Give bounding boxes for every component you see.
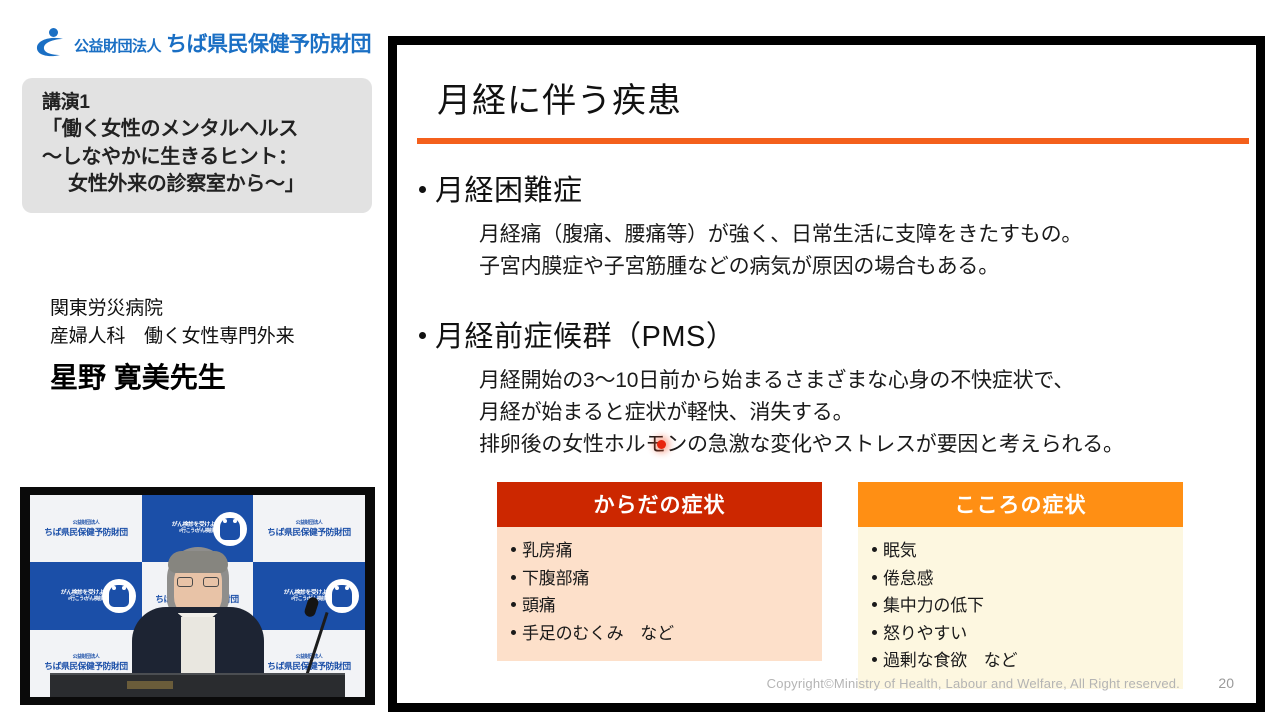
sidebar-panel: 公益財団法人 ちば県民保健予防財団 講演1 「働く女性のメンタルヘルス ～しなや… xyxy=(0,0,385,720)
slide-title: 月経に伴う疾患 xyxy=(437,73,682,122)
slide-page-number: 20 xyxy=(1218,675,1234,691)
speaker-affiliation-1: 産婦人科 働く女性専門外来 xyxy=(50,323,380,351)
section-heading-text: 月経困難症 xyxy=(435,167,583,209)
symptom-item: 過剰な食欲 など xyxy=(872,647,1183,675)
symptom-list: 眠気 倦怠感 集中力の低下 怒りやすい 過剰な食欲 など xyxy=(858,527,1183,689)
lecture-title-box: 講演1 「働く女性のメンタルヘルス ～しなやかに生きるヒント： 女性外来の診察室… xyxy=(22,78,372,213)
symptom-table-header: からだの症状 xyxy=(497,482,822,527)
section-heading: 月経困難症 xyxy=(419,167,1082,209)
symptom-item: 下腹部痛 xyxy=(511,565,822,593)
list-bullet-icon xyxy=(872,630,877,635)
list-bullet-icon xyxy=(872,547,877,552)
laser-pointer-dot-icon xyxy=(657,440,666,449)
list-bullet-icon xyxy=(511,575,516,580)
section-line: 排卵後の女性ホルモンの急激な変化やストレスが要因と考えられる。 xyxy=(479,429,1124,461)
podium xyxy=(50,673,345,697)
list-bullet-icon xyxy=(511,602,516,607)
symptom-label: 乳房痛 xyxy=(522,537,572,565)
speaker-info: 関東労災病院 産婦人科 働く女性専門外来 星野 寛美先生 xyxy=(50,295,380,396)
section-body: 月経痛（腹痛、腰痛等）が強く、日常生活に支障をきたすもの。 子宮内膜症や子宮筋腫… xyxy=(479,219,1082,283)
banner-text-large: ちば県民保健予防財団 xyxy=(44,661,127,671)
symptom-label: 頭痛 xyxy=(522,592,556,620)
chiba-swoosh-logo-icon xyxy=(36,27,66,59)
symptom-item: 乳房痛 xyxy=(511,537,822,565)
symptom-table-body: からだの症状 乳房痛 下腹部痛 頭痛 手足のむくみ など xyxy=(497,482,822,689)
eyeglasses-icon xyxy=(176,577,220,587)
symptom-item: 手足のむくみ など xyxy=(511,620,822,648)
presentation-slide[interactable]: 月経に伴う疾患 月経困難症 月経痛（腹痛、腰痛等）が強く、日常生活に支障をきたす… xyxy=(388,36,1265,712)
banner-text-large: ちば県民保健予防財団 xyxy=(267,526,350,536)
symptom-table-mind: こころの症状 眠気 倦怠感 集中力の低下 怒りやすい 過剰な食欲 など xyxy=(858,482,1183,689)
symptom-label: 下腹部痛 xyxy=(522,565,589,593)
section-heading: 月経前症候群（PMS） xyxy=(419,313,1124,355)
symptom-item: 眠気 xyxy=(872,537,1183,565)
section-line: 月経開始の3～10日前から始まるさまざまな心身の不快症状で、 xyxy=(479,365,1124,397)
banner-text-small: 公益財団法人 xyxy=(44,521,127,527)
slide-section-dysmenorrhea: 月経困難症 月経痛（腹痛、腰痛等）が強く、日常生活に支障をきたすもの。 子宮内膜… xyxy=(419,167,1082,283)
section-line: 子宮内膜症や子宮筋腫などの病気が原因の場合もある。 xyxy=(479,251,1082,283)
title-underline-rule xyxy=(417,138,1249,144)
list-bullet-icon xyxy=(511,547,516,552)
list-bullet-icon xyxy=(872,602,877,607)
symptom-label: 怒りやすい xyxy=(883,620,967,648)
section-line: 月経痛（腹痛、腰痛等）が強く、日常生活に支障をきたすもの。 xyxy=(479,219,1082,251)
symptom-item: 倦怠感 xyxy=(872,565,1183,593)
list-bullet-icon xyxy=(872,657,877,662)
symptom-label: 倦怠感 xyxy=(883,565,933,593)
speaker-affiliation-0: 関東労災病院 xyxy=(50,295,380,323)
slide-copyright: Copyright©Ministry of Health, Labour and… xyxy=(767,676,1180,691)
symptom-table-header: こころの症状 xyxy=(858,482,1183,527)
bullet-dot-icon xyxy=(419,186,426,193)
slide-section-pms: 月経前症候群（PMS） 月経開始の3～10日前から始まるさまざまな心身の不快症状… xyxy=(419,313,1124,461)
lecture-line-0: 講演1 xyxy=(42,90,356,116)
organization-prefix: 公益財団法人 xyxy=(74,35,161,56)
slide-content: 月経に伴う疾患 月経困難症 月経痛（腹痛、腰痛等）が強く、日常生活に支障をきたす… xyxy=(397,45,1256,703)
symptom-label: 手足のむくみ など xyxy=(522,620,674,648)
list-bullet-icon xyxy=(872,575,877,580)
lecture-line-3: 女性外来の診察室から～」 xyxy=(42,171,356,199)
organization-name: 公益財団法人 ちば県民保健予防財団 xyxy=(74,28,371,58)
section-line: 月経が始まると症状が軽快、消失する。 xyxy=(479,397,1124,429)
list-bullet-icon xyxy=(511,630,516,635)
video-viewport: 公益財団法人ちば県民保健予防財団 がん検診を受けよう!#行こう!がん検診! 公益… xyxy=(30,495,365,697)
symptom-item: 怒りやすい xyxy=(872,620,1183,648)
symptom-label: 集中力の低下 xyxy=(883,592,984,620)
banner-text-small: 公益財団法人 xyxy=(267,521,350,527)
symptom-item: 集中力の低下 xyxy=(872,592,1183,620)
lecture-line-1: 「働く女性のメンタルヘルス xyxy=(42,116,356,144)
mascot-icon xyxy=(213,512,247,546)
symptom-item: 頭痛 xyxy=(511,592,822,620)
symptom-tables: からだの症状 乳房痛 下腹部痛 頭痛 手足のむくみ など こころの症状 眠気 倦… xyxy=(497,482,1197,689)
symptom-label: 過剰な食欲 など xyxy=(883,647,1017,675)
mascot-icon xyxy=(325,579,359,613)
symptom-list: 乳房痛 下腹部痛 頭痛 手足のむくみ など xyxy=(497,527,822,661)
section-heading-text: 月経前症候群（PMS） xyxy=(435,313,735,355)
speaker-name: 星野 寛美先生 xyxy=(50,356,380,396)
section-body: 月経開始の3～10日前から始まるさまざまな心身の不快症状で、 月経が始まると症状… xyxy=(479,365,1124,461)
organization-title: ちば県民保健予防財団 xyxy=(166,28,371,58)
organization-header: 公益財団法人 ちば県民保健予防財団 xyxy=(36,27,371,59)
banner-text-large: ちば県民保健予防財団 xyxy=(44,526,127,536)
speaker-video-thumbnail[interactable]: 公益財団法人ちば県民保健予防財団 がん検診を受けよう!#行こう!がん検診! 公益… xyxy=(20,487,375,705)
symptom-label: 眠気 xyxy=(883,537,917,565)
lecture-line-2: ～しなやかに生きるヒント： xyxy=(42,144,356,172)
bullet-dot-icon xyxy=(419,332,426,339)
